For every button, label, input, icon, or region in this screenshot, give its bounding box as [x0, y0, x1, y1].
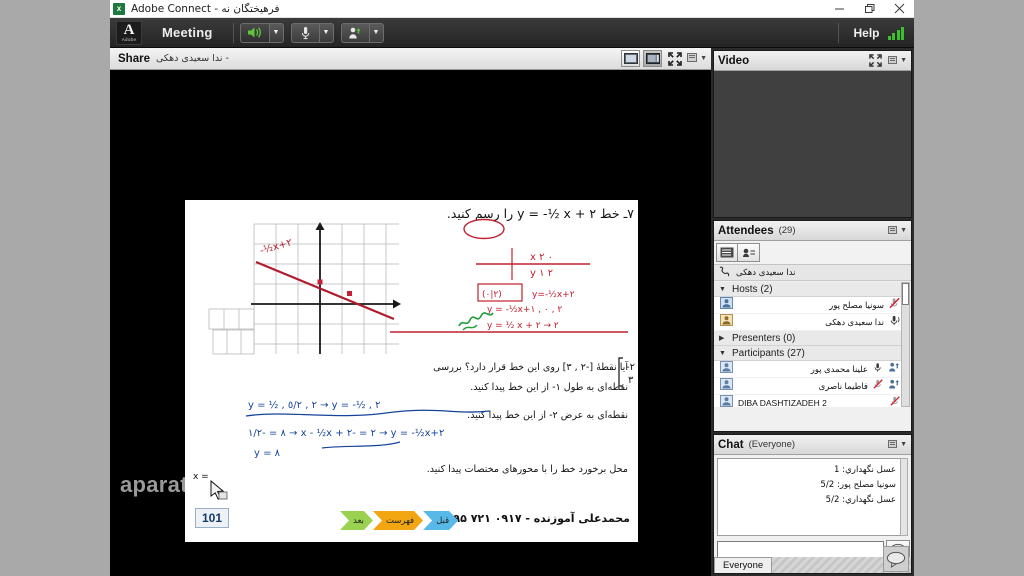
attendees-pod-title: Attendees [718, 225, 774, 237]
svg-text:y = ½ , ٢ , ٥/٢ → y = -½ , ٢: y = ½ , ٢ , ٥/٢ → y = -½ , ٢ [248, 399, 381, 411]
presentation-slide[interactable]: ۷ـ خط y = -½ x + ۲ را رسم کنید. [185, 200, 638, 542]
attendees-scroll-thumb[interactable] [902, 283, 909, 305]
participant-avatar-icon [720, 360, 733, 378]
layout-draft-icon[interactable] [621, 50, 640, 67]
phone-icon [718, 264, 731, 282]
attendee-name: علینا محمدی پور [738, 364, 868, 375]
mic-control-group: ▼ [291, 23, 334, 43]
video-pod-title: Video [718, 55, 749, 67]
pod-menu-icon[interactable]: ▼ [888, 226, 907, 236]
attendee-group-hosts[interactable]: ▼ Hosts (2) [714, 282, 904, 297]
card-view-icon[interactable] [738, 243, 760, 262]
mic-muted-icon[interactable] [890, 394, 901, 407]
chevron-down-icon: ▼ [373, 29, 380, 36]
toolbar-divider [233, 23, 234, 43]
attendee-status-icons [889, 313, 901, 331]
calc-annotation-red: x ٠ ٢ y ٢ ١ (٢|٠) y=-½x+٢ [470, 242, 610, 304]
help-button[interactable]: Help [853, 26, 879, 40]
circle-annotation [462, 218, 506, 240]
attendee-name: ندا سعیدی دهکی [738, 317, 884, 328]
chat-message: سونیا مصلح پور: 5/2 [723, 478, 896, 493]
attendee-row[interactable]: ندا سعیدی دهکی [714, 314, 904, 331]
attendee-status-icons [873, 360, 901, 378]
attendees-pod-header: Attendees (29) ▼ [714, 221, 911, 241]
raise-hand-icon[interactable] [888, 360, 901, 378]
chevron-right-icon: ▶ [719, 334, 727, 342]
slide-line-1: آیا نقطهٔ [-۲ , ۳] روی این خط قرار دارد؟… [433, 362, 628, 373]
share-pod: Share - ندا سعیدی دهکی [110, 48, 711, 576]
share-stage[interactable]: aparat.com/idealparsi ۷ـ خط y = -½ x + ۲… [110, 70, 711, 576]
slide-author-credit: محمدعلی آموزنده - ۰۹۱۷ ۷۲۱ ۸۹۹۵ [440, 512, 630, 525]
window-controls [824, 0, 914, 18]
attendees-pod-tools: ▼ [888, 226, 907, 236]
app-icon: x [113, 3, 125, 15]
participant-avatar-icon [720, 377, 733, 395]
chat-pod-overlay-icon[interactable] [883, 546, 909, 572]
participant-avatar-icon [720, 394, 733, 407]
meeting-menu[interactable]: Meeting [148, 25, 227, 40]
slide-line-2: نقطه‌ای به طول ۱- از این خط پیدا کنید. [470, 382, 628, 393]
mic-muted-icon[interactable] [889, 296, 901, 314]
chevron-down-icon: ▼ [273, 29, 280, 36]
pod-menu-icon[interactable]: ▼ [888, 440, 907, 450]
chevron-down-icon: ▼ [719, 286, 727, 293]
mic-muted-icon[interactable] [873, 377, 884, 395]
raise-hand-icon [348, 26, 363, 40]
mic-active-icon[interactable] [889, 313, 901, 331]
coordinate-graph: -½x+٢ [199, 214, 409, 359]
adobe-logo-icon: A Adobe [116, 21, 142, 45]
share-pod-header: Share - ندا سعیدی دهکی [110, 48, 711, 70]
chevron-down-icon: ▼ [719, 350, 727, 357]
mic-button[interactable] [291, 23, 319, 43]
slide-footer: محمدعلی آموزنده - ۰۹۱۷ ۷۲۱ ۸۹۹۵ بعد فهرس… [185, 504, 638, 542]
attendee-row[interactable]: DIBA DASHTIZADEH 2 [714, 395, 904, 407]
attendees-count: (29) [779, 225, 796, 236]
red-underline [390, 328, 630, 336]
adobe-connect-window: x فرهیختگان نه - Adobe Connect A Adobe [110, 0, 914, 576]
slide-line-4: محل برخورد خط را با محورهای مختصات پیدا … [427, 464, 628, 475]
help-area: Help [832, 23, 908, 43]
adobe-logo-glyph: A [124, 24, 135, 37]
attendee-group-label: Presenters (0) [732, 333, 795, 344]
attendees-view-toolbar [714, 241, 911, 265]
share-pod-tools: ▼ [621, 50, 707, 67]
restore-icon[interactable] [854, 0, 884, 18]
chat-pod-header: Chat (Everyone) ▼ [714, 435, 911, 455]
svg-text:(٢|٠): (٢|٠) [482, 290, 502, 300]
meeting-toolbar: A Adobe Meeting ▼ [110, 18, 914, 48]
svg-text:y ٢ ١: y ٢ ١ [530, 268, 553, 279]
status-button[interactable] [341, 23, 369, 43]
chat-message: عسل نگهداري: 1 [723, 463, 896, 478]
screen: x فرهیختگان نه - Adobe Connect A Adobe [0, 0, 1024, 576]
attendee-name: فاطیما ناصری [738, 381, 868, 392]
host-avatar-icon [720, 296, 733, 314]
chat-input-row [717, 540, 910, 558]
app-icon-glyph: x [117, 4, 121, 13]
right-rail: Video ▼ [711, 48, 914, 576]
slide-content: ۷ـ خط y = -½ x + ۲ را رسم کنید. [185, 200, 638, 542]
svg-text:٣: ٣ [628, 375, 634, 386]
share-pod-title: Share [118, 53, 150, 65]
microphone-icon [301, 26, 310, 40]
attendee-row[interactable]: سونیا مصلح پور [714, 297, 904, 314]
attendee-group-label: Participants (27) [732, 348, 805, 359]
chat-tab-everyone[interactable]: Everyone [714, 557, 772, 573]
fullscreen-icon[interactable] [866, 52, 885, 69]
chat-scope: (Everyone) [749, 439, 795, 450]
attendee-status-icons [873, 377, 901, 395]
self-attendee-row[interactable]: ندا سعیدی دهکی [714, 265, 911, 281]
mouse-cursor-icon [209, 480, 231, 502]
attendee-group-presenters[interactable]: ▶ Presenters (0) [714, 331, 904, 346]
attendee-name: سونیا مصلح پور [738, 300, 884, 311]
speaker-dropdown[interactable]: ▼ [269, 23, 284, 43]
video-pod: Video ▼ [713, 50, 912, 218]
next-slide-button[interactable]: بعد [340, 511, 373, 530]
chevron-down-icon: ▼ [323, 29, 330, 36]
chat-input[interactable] [717, 541, 884, 558]
attendee-name: DIBA DASHTIZADEH 2 [738, 398, 885, 407]
attendees-list[interactable]: ▼ Hosts (2) سونیا مصلح پور [714, 282, 904, 407]
attendee-row[interactable]: علینا محمدی پور [714, 361, 904, 378]
attendees-scrollbar[interactable] [901, 282, 910, 407]
chat-pod-title: Chat [718, 439, 744, 451]
window-title: فرهیختگان نه - Adobe Connect [131, 3, 280, 15]
mic-icon[interactable] [873, 360, 884, 378]
pod-menu-icon[interactable]: ▼ [888, 56, 907, 66]
attendee-row[interactable]: فاطیما ناصری [714, 378, 904, 395]
close-icon[interactable] [884, 0, 914, 18]
chat-message-list[interactable]: عسل نگهداري: 1 سونیا مصلح پور: 5/2 عسل ن… [717, 458, 902, 536]
svg-text:x ٠ ٢: x ٠ ٢ [530, 252, 553, 263]
chat-pod: Chat (Everyone) ▼ عسل نگهداري: 1 سونیا م… [713, 434, 912, 574]
page-number-badge: 101 [195, 508, 229, 528]
list-view-icon[interactable] [716, 243, 738, 262]
slide-nav-group: بعد فهرست قبل [340, 511, 458, 530]
host-avatar-icon [720, 313, 733, 331]
svg-text:y=-½x+٢: y=-½x+٢ [532, 290, 575, 300]
speaker-button[interactable] [240, 23, 269, 43]
attendees-pod: Attendees (29) ▼ [713, 220, 912, 432]
fullscreen-icon[interactable] [665, 50, 684, 67]
speaker-control-group: ▼ [240, 23, 284, 43]
attendee-status-icons [890, 394, 901, 407]
attendee-group-participants[interactable]: ▼ Participants (27) [714, 346, 904, 361]
title-bar: x فرهیختگان نه - Adobe Connect [110, 0, 914, 18]
toolbar-divider-2 [838, 23, 839, 43]
adobe-logo-word: Adobe [122, 37, 137, 42]
speaker-icon [247, 26, 263, 39]
status-control-group: ▼ [341, 23, 384, 43]
svg-text:y = ٨: y = ٨ [254, 448, 281, 459]
chat-message: عسل نگهداري: 5/2 [723, 493, 896, 508]
prev-slide-button[interactable]: قبل [423, 511, 458, 530]
signal-bars-icon [888, 26, 905, 40]
chat-tabs: Everyone [714, 557, 911, 573]
chat-scrollbar[interactable] [900, 458, 908, 536]
self-attendee-name: ندا سعیدی دهکی [736, 268, 796, 278]
share-presenter-name: - ندا سعیدی دهکی [156, 53, 229, 64]
chat-pod-tools: ▼ [888, 440, 907, 450]
status-dropdown[interactable]: ▼ [369, 23, 384, 43]
slide-cursor-note: x = [193, 472, 209, 482]
video-pod-header: Video ▼ [714, 51, 911, 71]
attendee-group-label: Hosts (2) [732, 284, 773, 295]
layout-presenter-icon[interactable] [643, 50, 662, 67]
raise-hand-icon[interactable] [888, 377, 901, 395]
svg-text:٨ = -١/٢ → x - ½x + ٢ = -٢ → y: ٨ = -١/٢ → x - ½x + ٢ = -٢ → y = -½x+٢ [248, 427, 444, 439]
video-canvas[interactable] [714, 71, 911, 217]
mic-dropdown[interactable]: ▼ [319, 23, 334, 43]
index-button[interactable]: فهرست [373, 511, 423, 530]
blue-work-annotation: y = ½ , ٢ , ٥/٢ → y = -½ , ٢ ٨ = -١/٢ → … [240, 396, 500, 462]
pod-menu-icon[interactable]: ▼ [687, 53, 707, 64]
attendee-status-icons [889, 296, 901, 314]
minimize-icon[interactable] [824, 0, 854, 18]
video-pod-tools: ▼ [866, 52, 907, 69]
